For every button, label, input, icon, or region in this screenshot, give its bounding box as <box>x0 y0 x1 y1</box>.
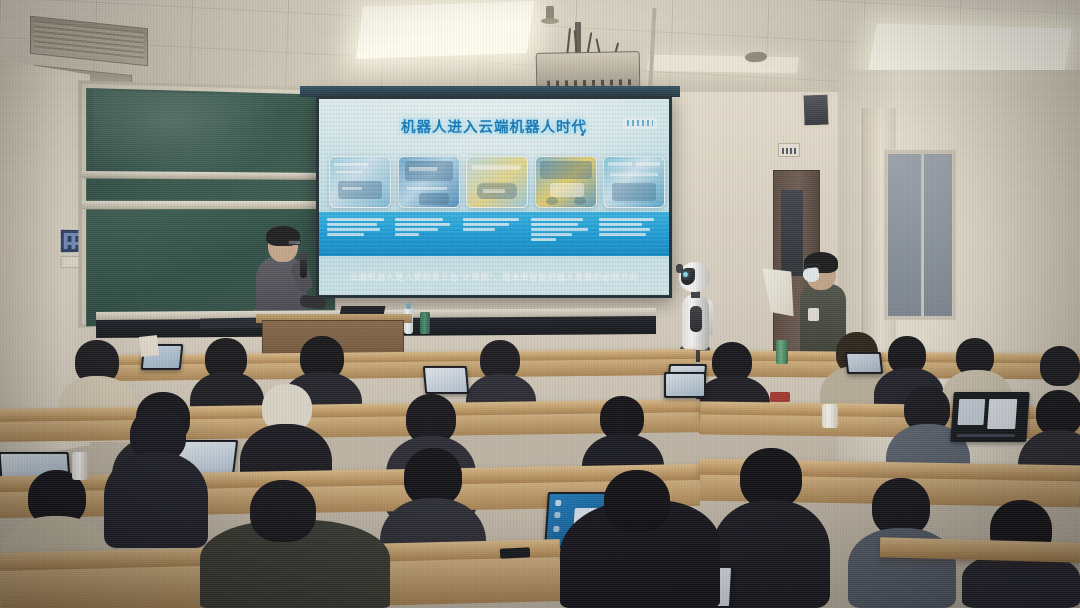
paper-cup <box>822 404 838 428</box>
ceiling-projector <box>536 51 641 91</box>
robot-sensor-icon <box>676 264 683 273</box>
tablet-app-icon[interactable] <box>554 512 560 518</box>
laptop[interactable] <box>845 352 883 374</box>
laptop[interactable] <box>664 372 706 398</box>
ceiling-light-panel <box>647 55 799 74</box>
attendee-badge <box>808 308 819 321</box>
slide-thumbnail <box>535 156 597 208</box>
slide-caption-column <box>599 216 661 252</box>
lecture-hall-photo: 乙川彡 机器人进入云端机器人时代 <box>0 0 1080 608</box>
slide-thumbnail <box>398 156 460 208</box>
slide-footer-text: 云端机器人是人类的第三台“计算机”，是未来智能机器人发展的必然方向 <box>319 271 669 283</box>
ceiling-light-panel <box>356 1 534 59</box>
slide: 机器人进入云端机器人时代 <box>319 99 669 295</box>
robot-chest-panel <box>690 306 702 332</box>
mouse-cursor-icon <box>581 133 584 136</box>
laptop[interactable] <box>950 392 1029 442</box>
green-bottle <box>776 340 788 364</box>
student-body <box>104 452 208 548</box>
slide-thumbnail-row <box>329 156 665 208</box>
slide-caption-band <box>319 212 669 256</box>
paper-stack <box>139 335 159 357</box>
slide-caption-column <box>327 216 389 252</box>
wall-speaker <box>800 91 831 128</box>
tablet-app-icon[interactable] <box>555 500 561 506</box>
sprinkler-icon <box>546 6 554 22</box>
laptop-screen <box>847 354 881 372</box>
green-cup <box>420 312 430 334</box>
tablet-app-icon[interactable] <box>553 526 559 532</box>
projection-screen: 机器人进入云端机器人时代 <box>316 96 672 298</box>
laptop-screen <box>952 394 1027 440</box>
thermos-cup <box>72 452 88 480</box>
door-window <box>781 190 803 276</box>
smartphone[interactable] <box>500 547 530 559</box>
slide-logo-icon <box>623 117 657 129</box>
microphone-icon <box>300 258 307 278</box>
laptop-window <box>987 399 1017 429</box>
slide-thumbnail <box>603 156 665 208</box>
door-sign <box>778 143 800 157</box>
slide-caption-column <box>463 216 525 252</box>
student-head <box>250 480 316 542</box>
slide-thumbnail <box>466 156 528 208</box>
corridor-window <box>884 150 956 320</box>
slide-caption-column <box>395 216 457 252</box>
laptop-screen <box>425 368 467 392</box>
student-head <box>740 448 802 508</box>
glasses-icon <box>288 240 301 245</box>
chalkboard-glare <box>93 90 282 186</box>
robot-eye-icon <box>683 272 688 277</box>
ceiling-light-panel <box>868 23 1072 76</box>
laptop-taskbar <box>957 434 1015 437</box>
student-head <box>604 470 670 532</box>
slide-title: 机器人进入云端机器人时代 <box>319 116 669 137</box>
slide-caption-column <box>531 216 593 252</box>
slide-thumbnail <box>329 156 391 208</box>
red-object <box>770 392 790 402</box>
student-head <box>1040 346 1080 386</box>
laptop[interactable] <box>423 366 469 394</box>
slide-caption-columns <box>319 212 669 256</box>
laptop-window <box>957 399 985 425</box>
laptop-screen <box>666 374 704 396</box>
